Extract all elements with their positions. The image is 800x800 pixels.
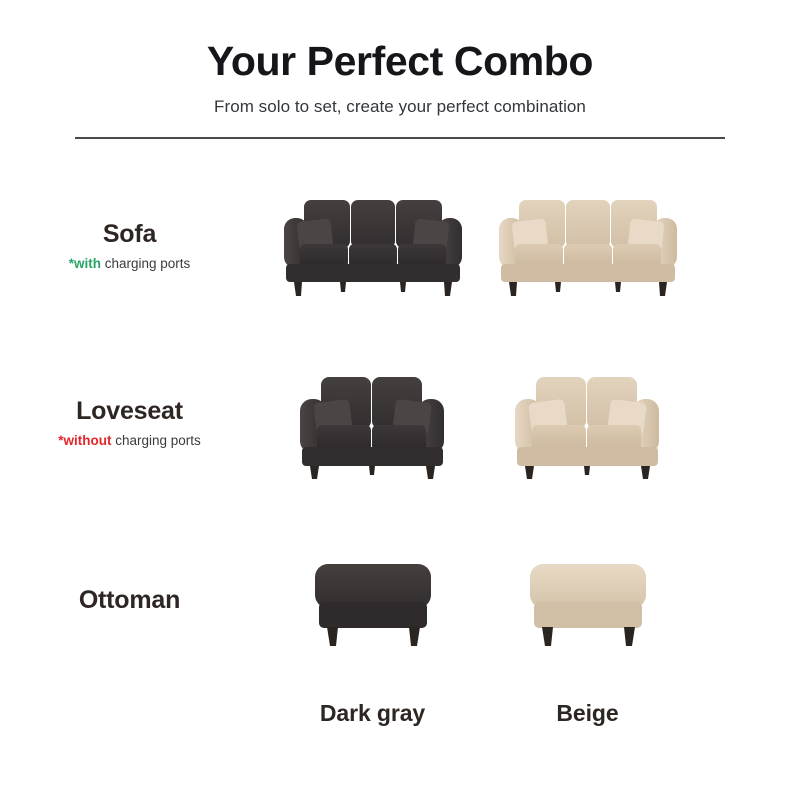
ottoman-beige-illustration bbox=[524, 548, 652, 653]
row-label-sofa: Sofa *with charging ports bbox=[0, 220, 265, 271]
product-sofa-beige[interactable] bbox=[480, 190, 695, 300]
row-name-ottoman: Ottoman bbox=[0, 586, 259, 615]
note-rest-sofa: charging ports bbox=[101, 256, 190, 271]
row-name-loveseat: Loveseat bbox=[0, 397, 259, 426]
sofa-beige-illustration bbox=[493, 190, 683, 300]
color-label-dark-gray: Dark gray bbox=[265, 700, 480, 727]
loveseat-beige-illustration bbox=[510, 365, 666, 480]
note-emphasis-loveseat: without bbox=[63, 433, 111, 448]
sofa-dark-gray-illustration bbox=[278, 190, 468, 300]
header-divider bbox=[75, 137, 725, 139]
page-header: Your Perfect Combo From solo to set, cre… bbox=[0, 0, 800, 139]
row-label-ottoman: Ottoman bbox=[0, 586, 265, 615]
row-label-loveseat: Loveseat *without charging ports bbox=[0, 397, 265, 448]
product-loveseat-dark-gray[interactable] bbox=[265, 365, 480, 480]
loveseat-dark-gray-illustration bbox=[295, 365, 451, 480]
row-name-sofa: Sofa bbox=[0, 220, 259, 249]
product-grid: Sofa *with charging ports bbox=[0, 160, 800, 685]
product-row-sofa: Sofa *with charging ports bbox=[0, 160, 800, 330]
page-subtitle: From solo to set, create your perfect co… bbox=[0, 97, 800, 117]
note-emphasis-sofa: with bbox=[74, 256, 101, 271]
product-ottoman-dark-gray[interactable] bbox=[265, 548, 480, 653]
product-ottoman-beige[interactable] bbox=[480, 548, 695, 653]
product-loveseat-beige[interactable] bbox=[480, 365, 695, 480]
product-row-ottoman: Ottoman bbox=[0, 515, 800, 685]
row-note-sofa: *with charging ports bbox=[0, 256, 259, 271]
note-rest-loveseat: charging ports bbox=[111, 433, 200, 448]
color-label-beige: Beige bbox=[480, 700, 695, 727]
row-note-loveseat: *without charging ports bbox=[0, 433, 259, 448]
ottoman-dark-gray-illustration bbox=[309, 548, 437, 653]
product-row-loveseat: Loveseat *without charging ports bbox=[0, 330, 800, 515]
page-title: Your Perfect Combo bbox=[0, 40, 800, 83]
color-labels-row: Dark gray Beige bbox=[0, 700, 800, 727]
header-divider-wrap bbox=[0, 137, 800, 139]
product-sofa-dark-gray[interactable] bbox=[265, 190, 480, 300]
